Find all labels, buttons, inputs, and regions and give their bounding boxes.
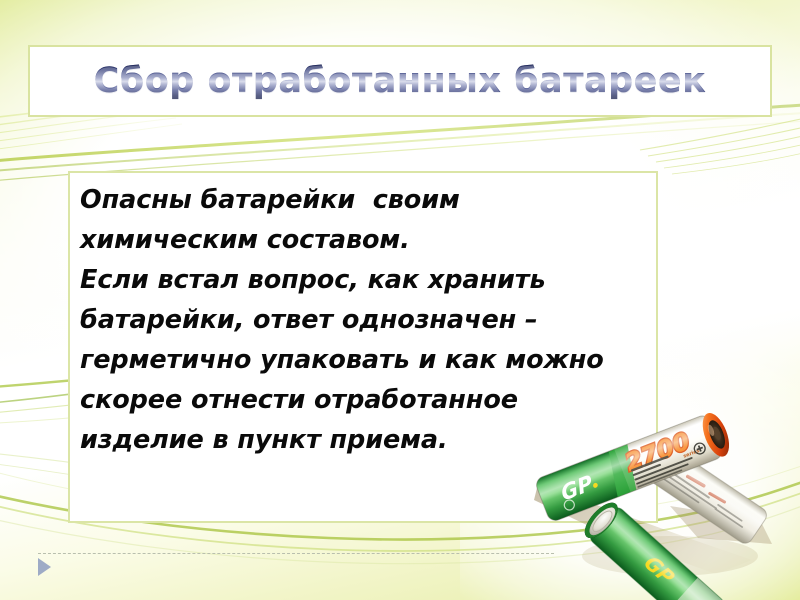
footer-divider (38, 553, 554, 554)
next-slide-arrow-icon[interactable] (38, 558, 51, 576)
slide-body-text: Опасны батарейки своим химическим состав… (80, 180, 680, 460)
page-title: Сбор отработанных батареек (94, 64, 707, 99)
slide-title-box: Сбор отработанных батареек (28, 45, 772, 117)
presentation-slide: Сбор отработанных батареек Опасны батаре… (0, 0, 800, 600)
